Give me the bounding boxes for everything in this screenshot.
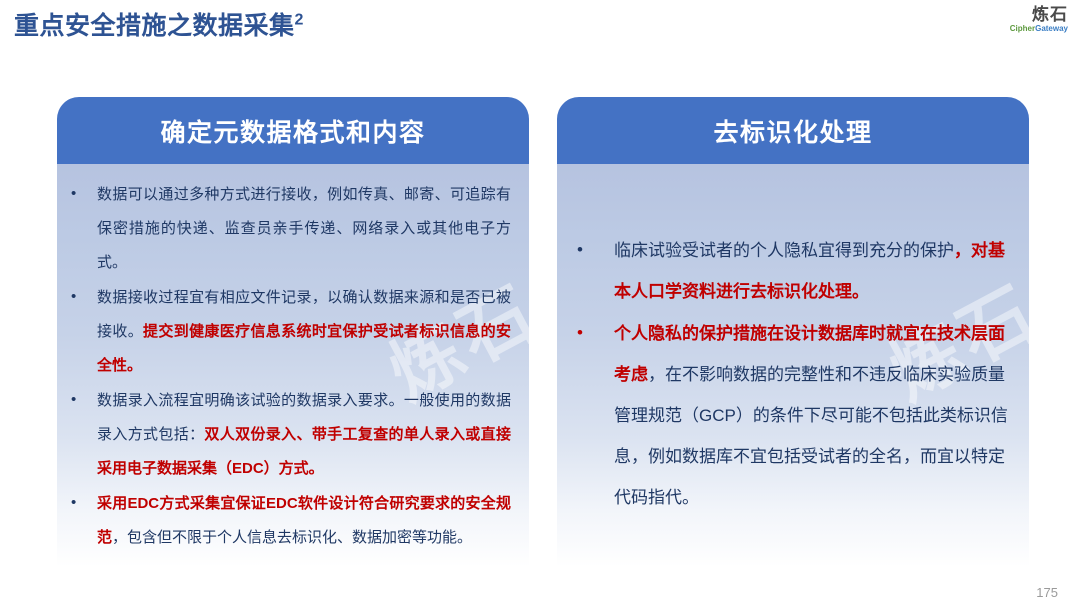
card-header-metadata-format: 确定元数据格式和内容: [57, 97, 529, 164]
list-item: 数据接收过程宜有相应文件记录，以确认数据来源和是否已被接收。提交到健康医疗信息系…: [71, 281, 511, 383]
brand-logo-en: CipherGateway: [1010, 25, 1068, 33]
brand-logo: 炼石 CipherGateway: [1010, 6, 1068, 33]
list-item: 数据录入流程宜明确该试验的数据录入要求。一般使用的数据录入方式包括：双人双份录入…: [71, 384, 511, 486]
card-metadata-format: 确定元数据格式和内容 炼石 数据可以通过多种方式进行接收，例如传真、邮寄、可追踪…: [57, 97, 529, 567]
list-item: 临床试验受试者的个人隐私宜得到充分的保护，对基本人口学资料进行去标识化处理。: [571, 230, 1011, 312]
brand-logo-cn: 炼石: [1010, 6, 1068, 23]
page-number: 175: [1036, 585, 1058, 600]
brand-logo-cipher: Cipher: [1010, 24, 1035, 33]
page-title-superscript: 2: [295, 12, 304, 29]
card-de-identification: 去标识化处理 炼石 临床试验受试者的个人隐私宜得到充分的保护，对基本人口学资料进…: [557, 97, 1029, 567]
list-item: 个人隐私的保护措施在设计数据库时就宜在技术层面考虑，在不影响数据的完整性和不违反…: [571, 313, 1011, 518]
highlighted-text: 提交到健康医疗信息系统时宜保护受试者标识信息的安全性。: [97, 323, 511, 374]
card-header-de-identification: 去标识化处理: [557, 97, 1029, 164]
list-item: 采用EDC方式采集宜保证EDC软件设计符合研究要求的安全规范，包含但不限于个人信…: [71, 487, 511, 555]
brand-logo-gateway: Gateway: [1035, 24, 1068, 33]
card-body-metadata-format: 炼石 数据可以通过多种方式进行接收，例如传真、邮寄、可追踪有保密措施的快递、监查…: [57, 164, 529, 567]
list-item: 数据可以通过多种方式进行接收，例如传真、邮寄、可追踪有保密措施的快递、监查员亲手…: [71, 178, 511, 280]
body-text: 数据可以通过多种方式进行接收，例如传真、邮寄、可追踪有保密措施的快递、监查员亲手…: [97, 186, 511, 271]
bullet-list-metadata-format: 数据可以通过多种方式进行接收，例如传真、邮寄、可追踪有保密措施的快递、监查员亲手…: [71, 178, 511, 555]
body-text: ，在不影响数据的完整性和不违反临床实验质量管理规范（GCP）的条件下尽可能不包括…: [614, 365, 1008, 507]
bullet-list-de-identification: 临床试验受试者的个人隐私宜得到充分的保护，对基本人口学资料进行去标识化处理。个人…: [571, 230, 1011, 518]
page-title: 重点安全措施之数据采集2: [14, 6, 304, 42]
page-title-text: 重点安全措施之数据采集: [14, 12, 295, 40]
body-text: ，包含但不限于个人信息去标识化、数据加密等功能。: [112, 529, 472, 546]
card-body-de-identification: 炼石 临床试验受试者的个人隐私宜得到充分的保护，对基本人口学资料进行去标识化处理…: [557, 164, 1029, 567]
body-text: 临床试验受试者的个人隐私宜得到充分的保护: [614, 241, 954, 260]
